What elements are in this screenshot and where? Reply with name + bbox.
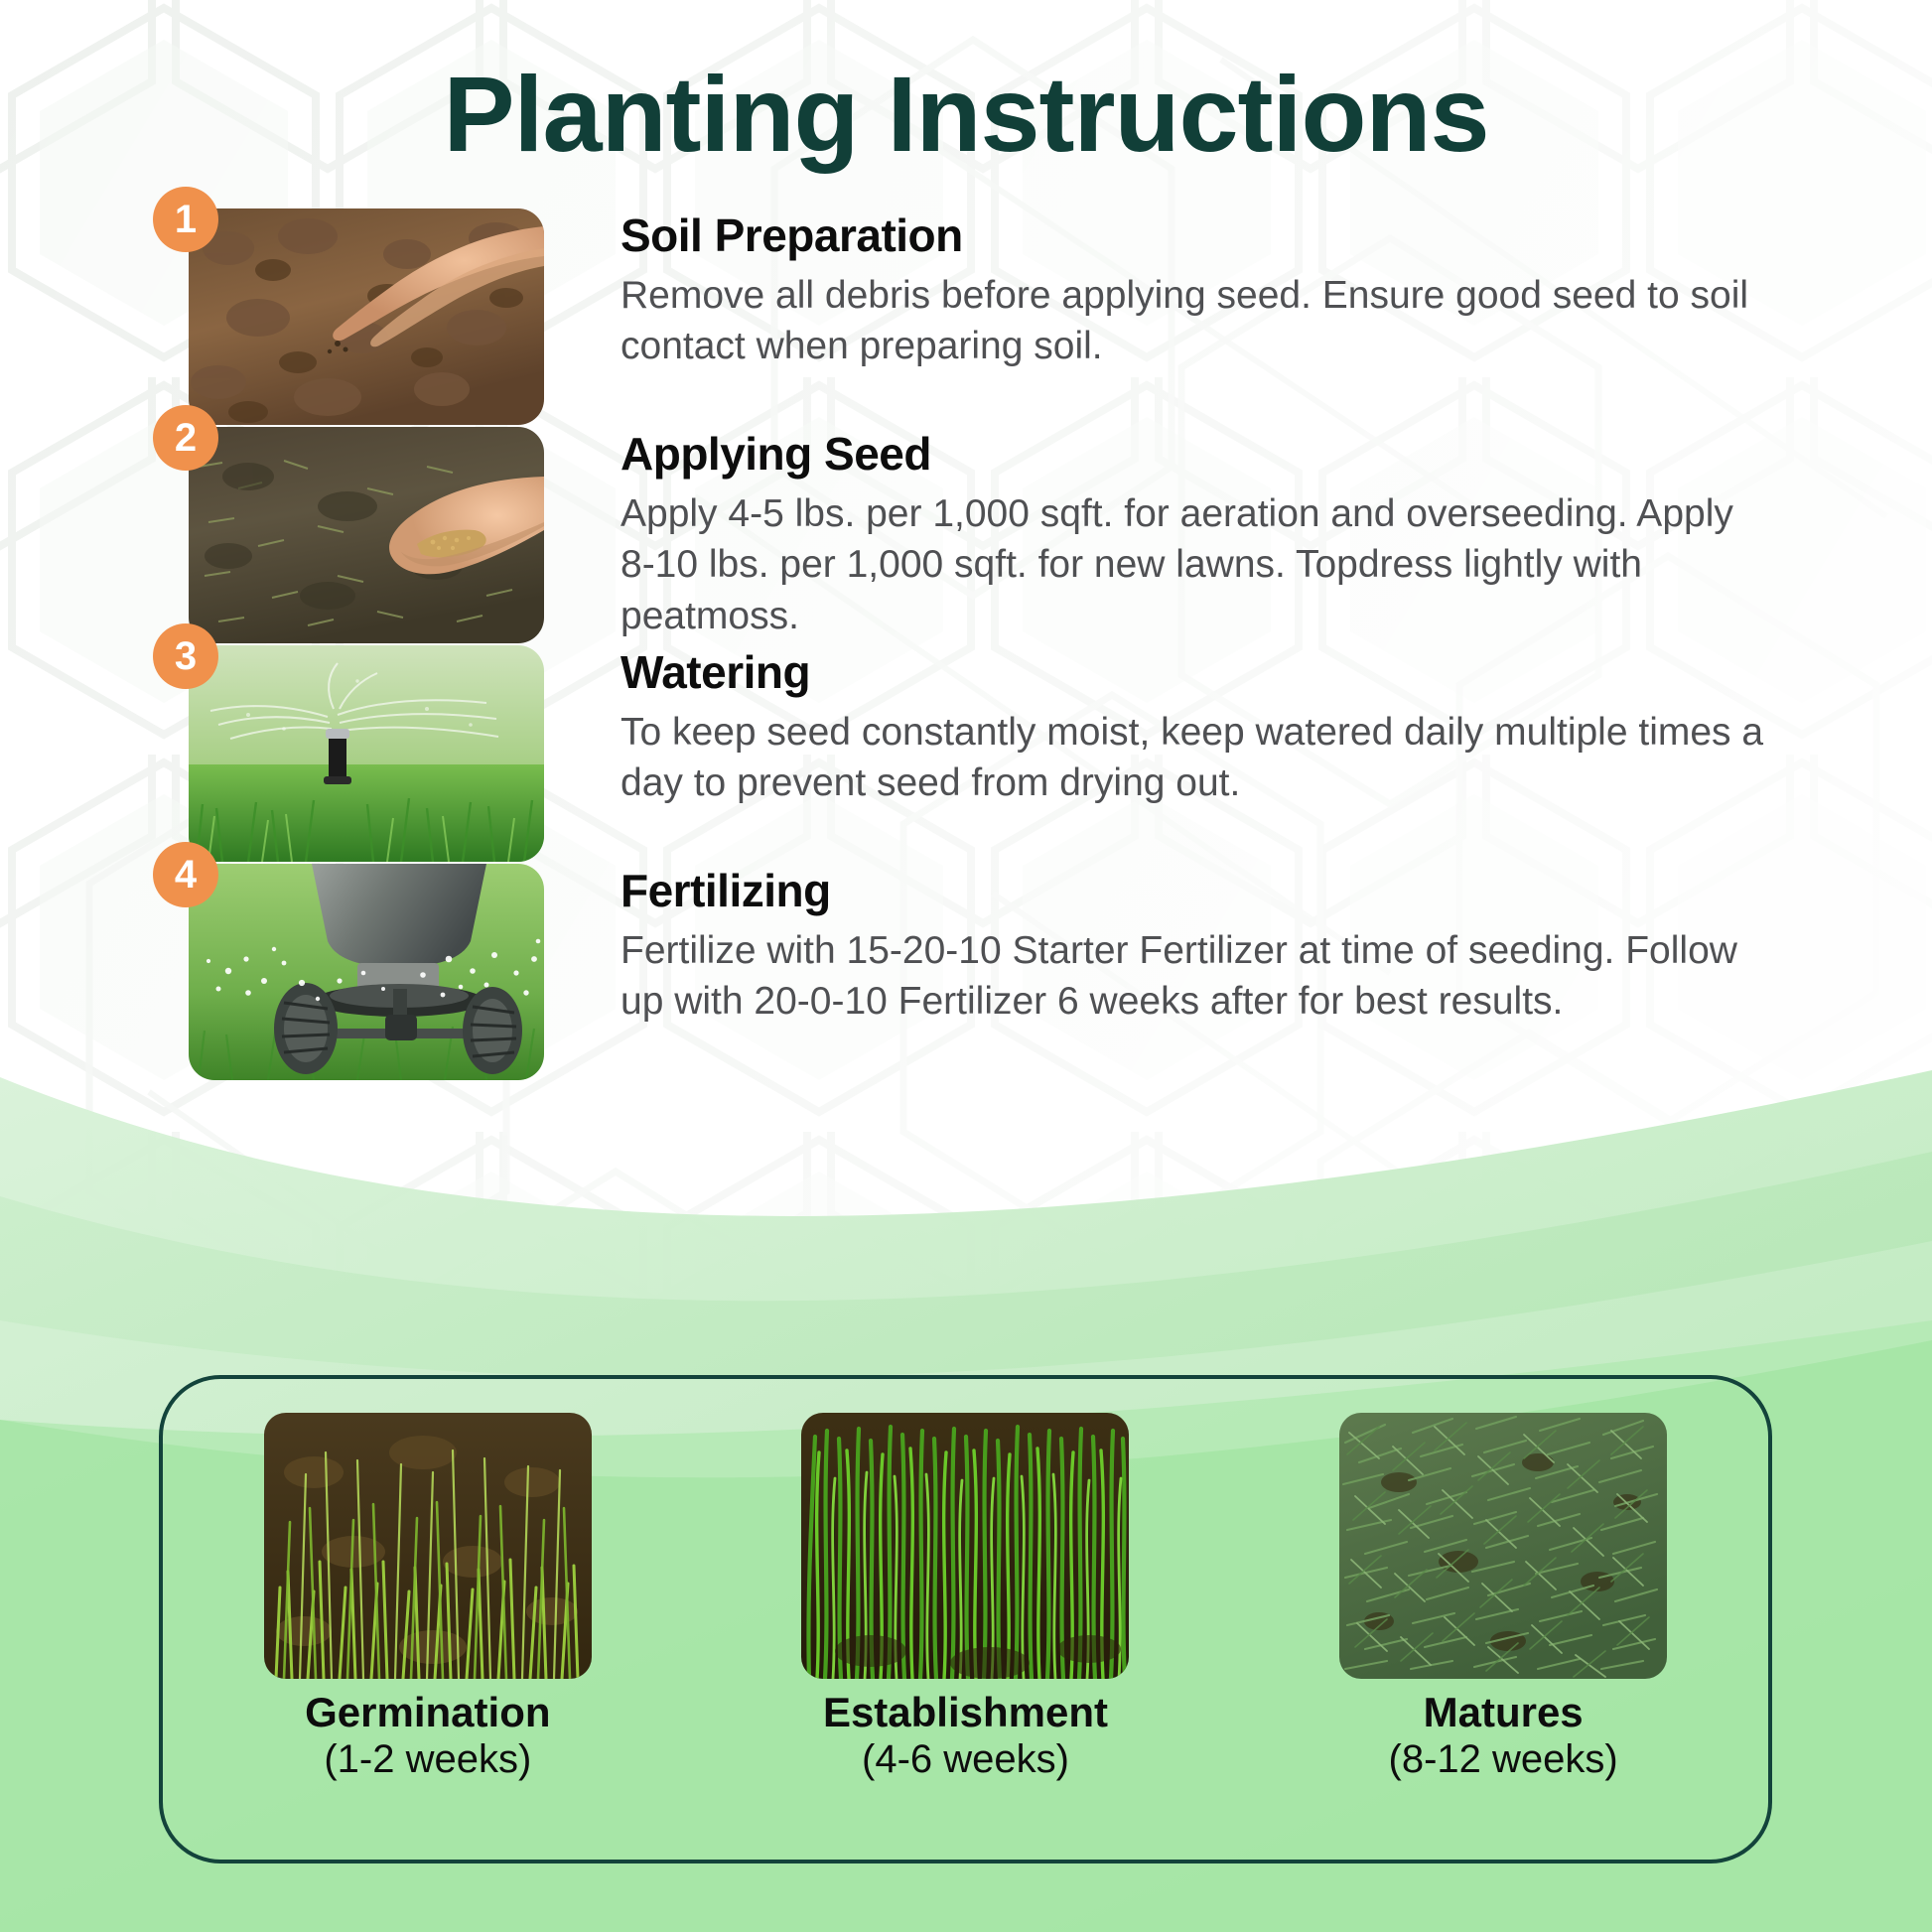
stage-label: Germination xyxy=(209,1689,646,1736)
stage-image-germination xyxy=(264,1413,592,1679)
step-image-fertilizing xyxy=(189,864,544,1080)
stage-image-establishment xyxy=(801,1413,1129,1679)
step-image-watering xyxy=(189,645,544,862)
step-heading: Soil Preparation xyxy=(621,208,1772,262)
step-body: Remove all debris before applying seed. … xyxy=(621,270,1772,372)
step-thumbnail-wrapper: 2 xyxy=(189,427,544,643)
step-number-badge: 3 xyxy=(153,623,218,689)
step-text-block: Watering To keep seed constantly moist, … xyxy=(621,645,1772,809)
step-heading: Applying Seed xyxy=(621,427,1772,481)
stage-item: Matures (8-12 weeks) xyxy=(1285,1413,1722,1782)
stage-duration: (8-12 weeks) xyxy=(1285,1736,1722,1782)
stage-label: Establishment xyxy=(747,1689,1183,1736)
stage-duration: (1-2 weeks) xyxy=(209,1736,646,1782)
spreader-wheel-right xyxy=(463,987,522,1074)
step-heading: Fertilizing xyxy=(621,864,1772,917)
stage-label: Matures xyxy=(1285,1689,1722,1736)
stage-image-matures xyxy=(1339,1413,1667,1679)
step-body: To keep seed constantly moist, keep wate… xyxy=(621,707,1772,809)
step-text-block: Fertilizing Fertilize with 15-20-10 Star… xyxy=(621,864,1772,1028)
step-body: Fertilize with 15-20-10 Starter Fertiliz… xyxy=(621,925,1772,1028)
growth-stages-list: Germination (1-2 weeks) xyxy=(159,1375,1772,1863)
spreader-wheel-left xyxy=(274,983,338,1074)
step-thumbnail-wrapper: 3 xyxy=(189,645,544,862)
step-number-badge: 2 xyxy=(153,405,218,471)
step-text-block: Applying Seed Apply 4-5 lbs. per 1,000 s… xyxy=(621,427,1772,641)
step-body: Apply 4-5 lbs. per 1,000 sqft. for aerat… xyxy=(621,488,1772,641)
step-thumbnail-wrapper: 1 xyxy=(189,208,544,425)
stage-item: Establishment (4-6 weeks) xyxy=(747,1413,1183,1782)
stage-item: Germination (1-2 weeks) xyxy=(209,1413,646,1782)
step-number-badge: 4 xyxy=(153,842,218,907)
step-image-applying-seed xyxy=(189,427,544,643)
step-heading: Watering xyxy=(621,645,1772,699)
step-text-block: Soil Preparation Remove all debris befor… xyxy=(621,208,1772,372)
infographic-page: Planting Instructions 1 xyxy=(0,0,1932,1932)
step-number-badge: 1 xyxy=(153,187,218,252)
page-title: Planting Instructions xyxy=(0,52,1932,176)
step-thumbnail-wrapper: 4 xyxy=(189,864,544,1080)
stage-duration: (4-6 weeks) xyxy=(747,1736,1183,1782)
step-image-soil-preparation xyxy=(189,208,544,425)
